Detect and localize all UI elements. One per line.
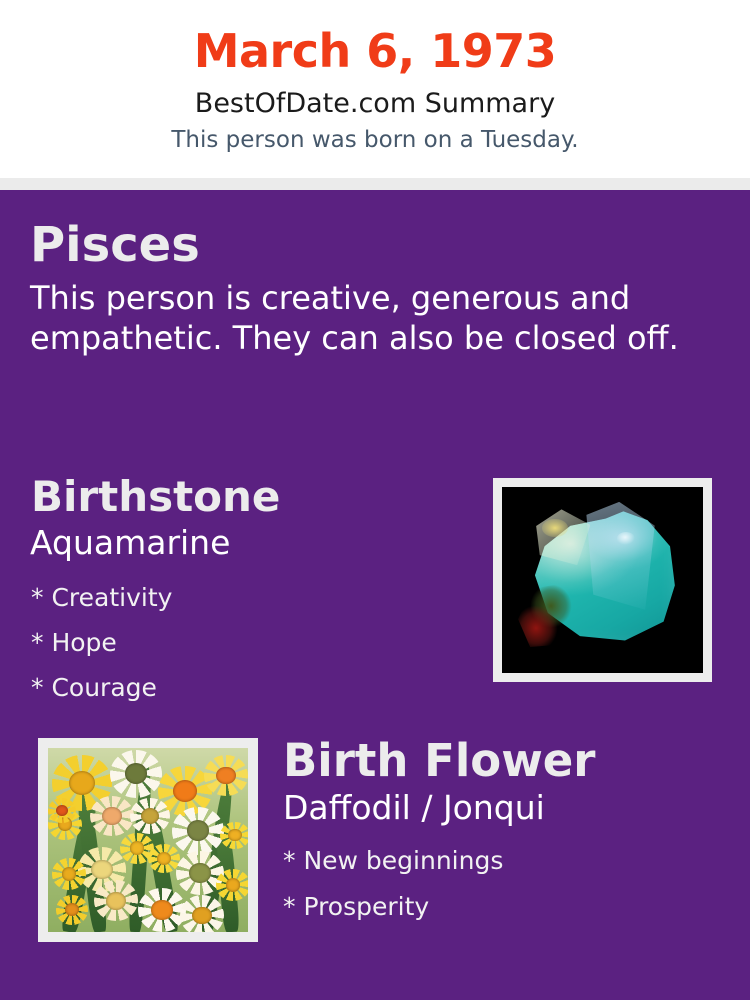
flower-icon [204,755,248,795]
list-item: * Prosperity [283,884,713,930]
list-item: * Creativity [31,575,451,620]
flower-icon [220,822,248,850]
daffodil-flowers-image [48,748,248,932]
flower-icon [130,798,170,835]
list-item: * New beginnings [283,838,713,884]
header-divider [0,178,750,190]
birthstone-trait-list: * Creativity * Hope * Courage [31,575,451,710]
crystal-facet-icon [586,502,654,610]
header-section: March 6, 1973 BestOfDate.com Summary Thi… [0,0,750,178]
infographic-card: March 6, 1973 BestOfDate.com Summary Thi… [0,0,750,1000]
aquamarine-crystal-image [502,487,703,673]
list-item: * Courage [31,665,451,710]
flower-icon [56,895,88,924]
birth-flower-heading: Birth Flower [283,735,596,787]
details-panel: Pisces This person is creative, generous… [0,190,750,1000]
flower-icon [94,880,138,920]
list-item: * Hope [31,620,451,665]
zodiac-description: This person is creative, generous and em… [30,278,710,358]
zodiac-sign-title: Pisces [30,218,200,272]
flower-icon [172,807,224,855]
page-title-date: March 6, 1973 [0,24,750,78]
flower-icon [138,888,186,932]
flower-icon [52,858,86,889]
birthstone-name: Aquamarine [30,523,230,563]
birth-flower-trait-list: * New beginnings * Prosperity [283,838,713,930]
flower-icon [148,844,180,873]
flower-icon [216,869,248,900]
birthstone-image-frame [493,478,712,682]
born-day-note: This person was born on a Tuesday. [0,126,750,154]
birth-flower-image-frame [38,738,258,942]
birthstone-heading: Birthstone [31,473,280,521]
flower-icon [90,796,134,836]
crystal-highlight-icon [617,532,635,545]
flower-icon [180,895,224,932]
birth-flower-name: Daffodil / Jonqui [283,788,545,828]
site-summary-label: BestOfDate.com Summary [0,88,750,120]
flower-icon [110,750,162,798]
